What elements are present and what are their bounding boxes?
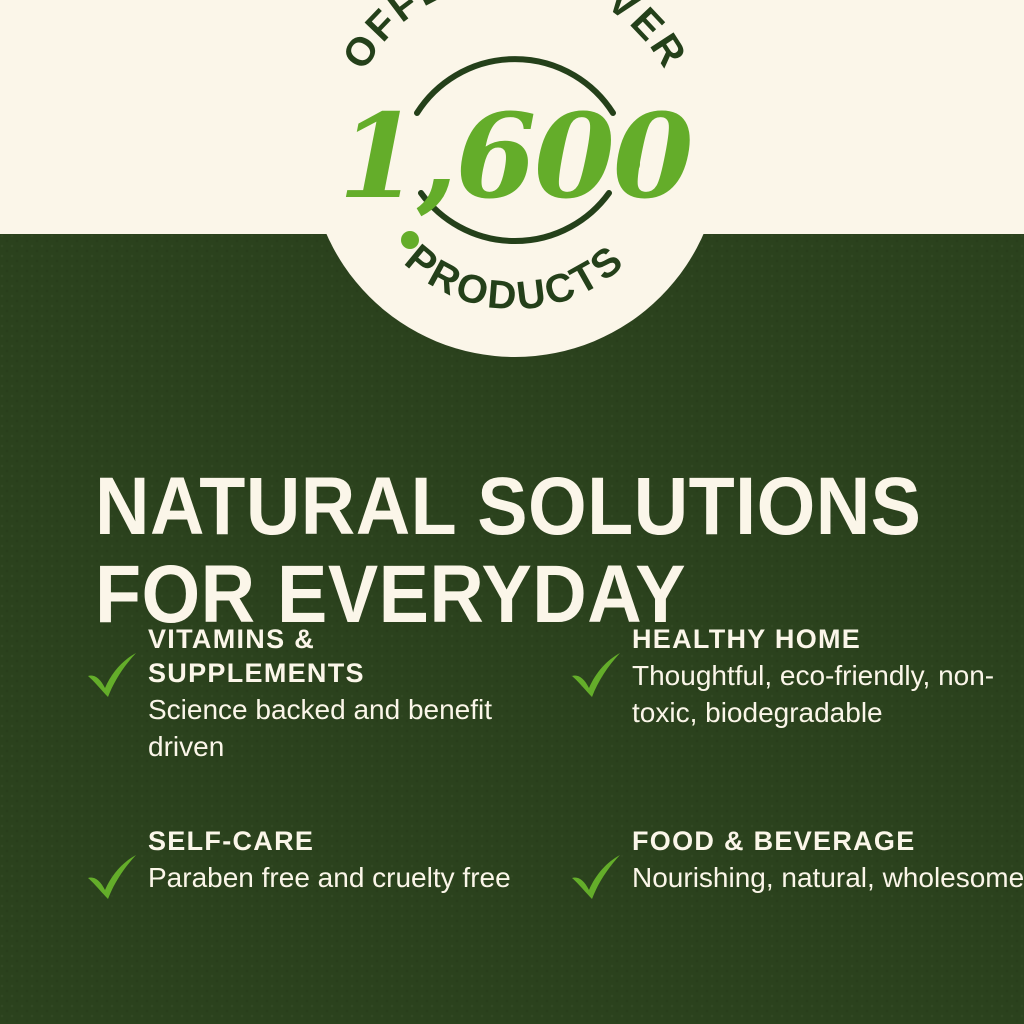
checkmark-icon — [568, 648, 624, 702]
feature-title: SELF-CARE — [148, 824, 508, 858]
feature-description: Science backed and benefit driven — [148, 691, 528, 765]
checkmark-icon — [84, 850, 140, 904]
feature-item-self-care: SELF-CARE Paraben free and cruelty free — [84, 824, 554, 974]
feature-text-block: VITAMINS & SUPPLEMENTS Science backed an… — [148, 622, 528, 765]
feature-description: Thoughtful, eco-friendly, non-toxic, bio… — [632, 657, 1024, 731]
feature-description: Paraben free and cruelty free — [148, 859, 511, 896]
feature-text-block: FOOD & BEVERAGE Nourishing, natural, who… — [632, 824, 1024, 896]
feature-list: VITAMINS & SUPPLEMENTS Science backed an… — [0, 622, 1024, 974]
badge-number: 1,600 — [338, 89, 693, 225]
checkmark-icon — [84, 648, 140, 702]
feature-text-block: SELF-CARE Paraben free and cruelty free — [148, 824, 511, 896]
checkmark-icon — [568, 850, 624, 904]
feature-item-food-beverage: FOOD & BEVERAGE Nourishing, natural, who… — [568, 824, 1024, 974]
page-title: NATURAL SOLUTIONS FOR EVERYDAY — [95, 463, 905, 639]
feature-item-vitamins-supplements: VITAMINS & SUPPLEMENTS Science backed an… — [84, 622, 554, 772]
promo-poster: OFFERING OVER PRODUCTS 1,600 NATURAL SOL… — [0, 0, 1024, 1024]
badge-dot-left-icon — [401, 231, 419, 249]
feature-item-healthy-home: HEALTHY HOME Thoughtful, eco-friendly, n… — [568, 622, 1024, 772]
headline-line-1: NATURAL SOLUTIONS — [95, 463, 905, 551]
feature-title: HEALTHY HOME — [632, 622, 1024, 656]
badge-top-arc-text: OFFERING OVER — [334, 0, 695, 77]
product-count-badge: OFFERING OVER PRODUCTS 1,600 — [309, 0, 721, 357]
feature-text-block: HEALTHY HOME Thoughtful, eco-friendly, n… — [632, 622, 1024, 731]
feature-title: VITAMINS & SUPPLEMENTS — [148, 622, 508, 690]
feature-title: FOOD & BEVERAGE — [632, 824, 1024, 858]
feature-description: Nourishing, natural, wholesome — [632, 859, 1024, 896]
badge-bottom-arc-text: PRODUCTS — [397, 236, 633, 319]
